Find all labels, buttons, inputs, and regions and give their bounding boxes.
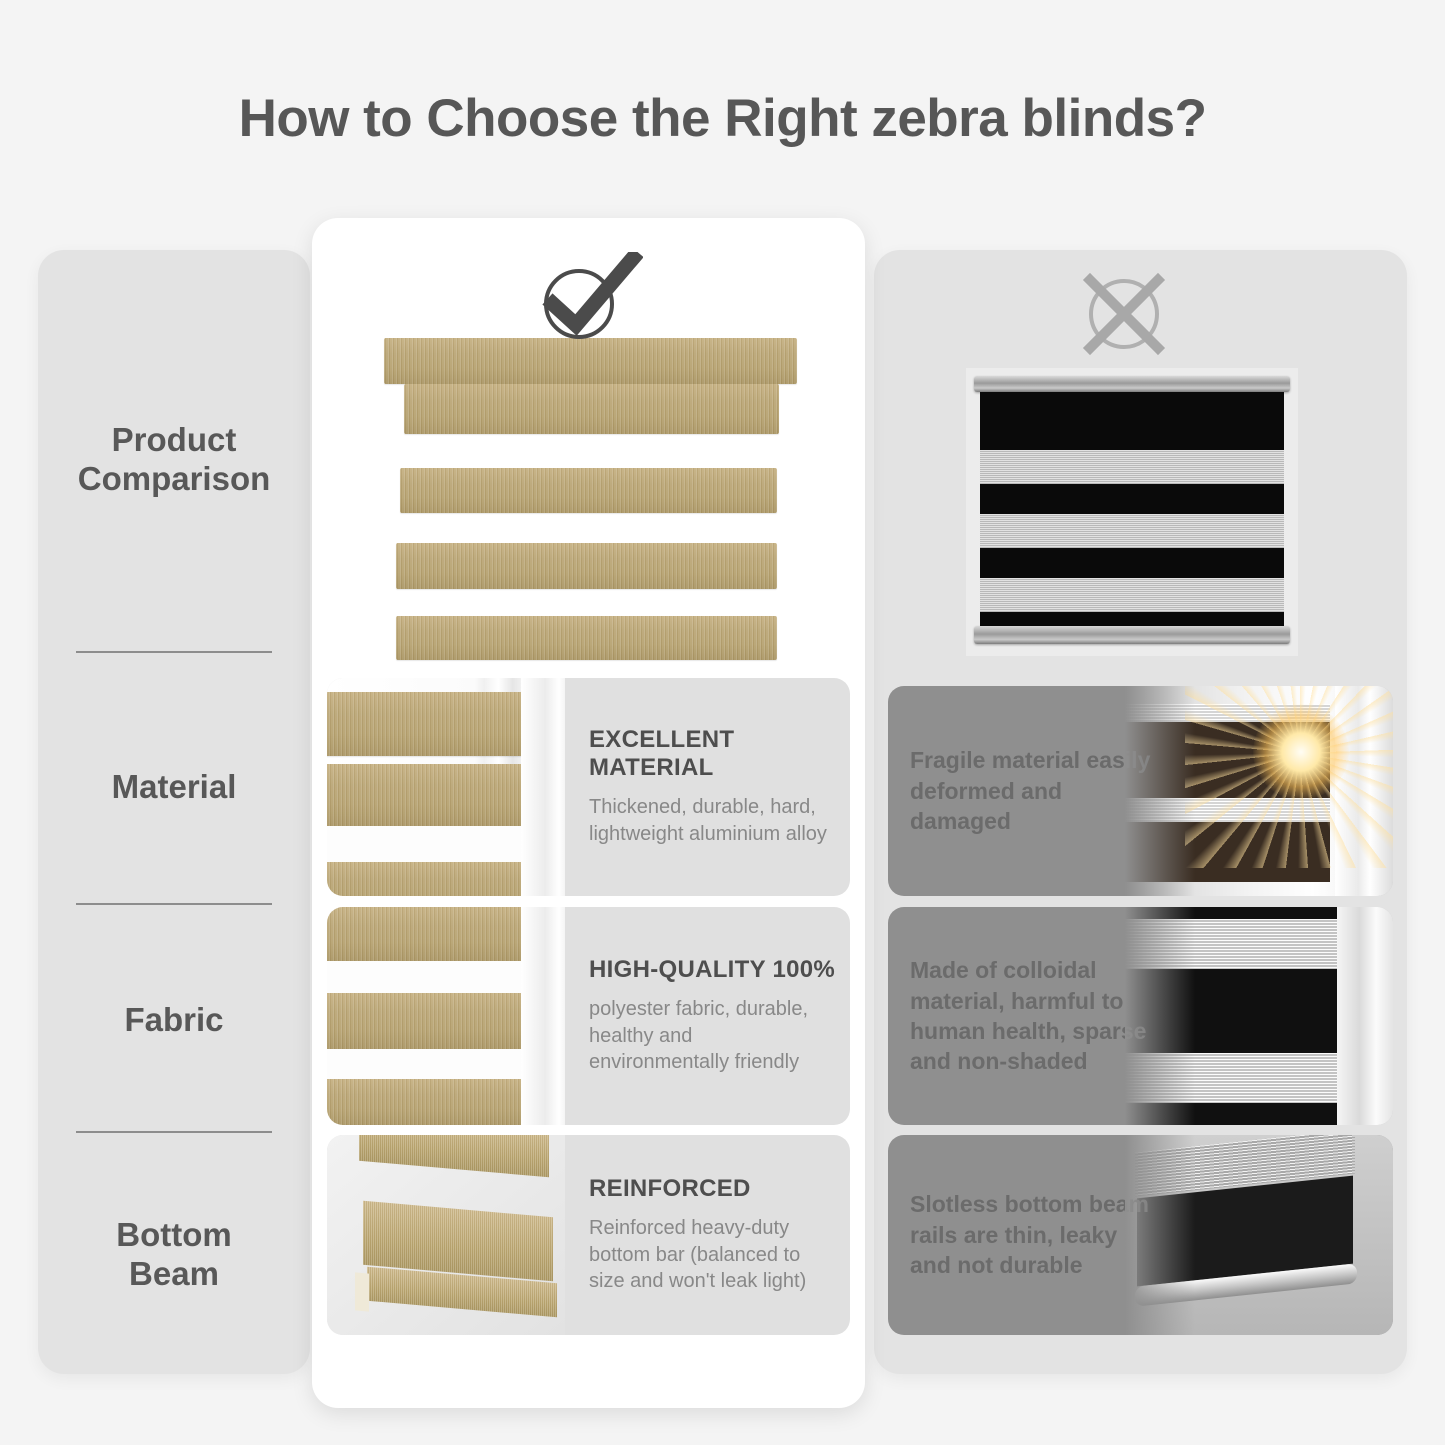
good-card-bottom-beam: REINFORCED Reinforced heavy-duty bottom … (327, 1135, 850, 1335)
blind-mesh-stripe (980, 450, 1284, 484)
blind-headrail (974, 376, 1290, 392)
good-card-material: EXCELLENT MATERIAL Thickened, durable, h… (327, 678, 850, 896)
cross-circle-icon (1078, 268, 1170, 360)
beige-blind-closeup-image (327, 678, 565, 896)
good-hero-image (382, 338, 799, 668)
sidebar-label-line1: Material (112, 768, 237, 807)
blind-slat (400, 468, 777, 513)
sidebar-label-line1: Product (78, 421, 271, 460)
blind-body (980, 392, 1284, 628)
card-body: Thickened, durable, hard, lightweight al… (589, 794, 836, 848)
beige-bottom-beam-image (327, 1135, 565, 1335)
bad-card-bottom-beam: Slotless bottom beam rails are thin, lea… (888, 1135, 1393, 1335)
blind-headrail (384, 338, 797, 384)
sidebar-label-line2: Beam (116, 1255, 231, 1294)
sidebar-item-bottom-beam: Bottom Beam (38, 1135, 310, 1374)
card-heading: HIGH-QUALITY 100% (589, 956, 836, 984)
sidebar-item-material: Material (38, 670, 310, 905)
sun-leak-window-image (1125, 686, 1393, 896)
blind-bottom-rail (974, 626, 1290, 644)
blind-mesh-stripe (980, 578, 1284, 612)
thin-bottom-rail-image (1125, 1135, 1393, 1335)
gray-striped-blind-image (1125, 907, 1393, 1125)
card-text: Fragile material easily deformed and dam… (910, 745, 1160, 836)
card-body: Reinforced heavy-duty bottom bar (balanc… (589, 1215, 836, 1295)
card-text: Slotless bottom beam rails are thin, lea… (910, 1189, 1160, 1280)
bad-hero-image (966, 368, 1298, 656)
sidebar-item-fabric: Fabric (38, 905, 310, 1135)
bad-card-material: Fragile material easily deformed and dam… (888, 686, 1393, 896)
sidebar-label-line1: Bottom (116, 1216, 231, 1255)
page-title: How to Choose the Right zebra blinds? (0, 88, 1445, 149)
card-heading: EXCELLENT MATERIAL (589, 726, 836, 782)
beige-blind-fabric-image (327, 907, 565, 1125)
blind-slat (396, 616, 777, 660)
card-text-wrap: Made of colloidal material, harmful to h… (910, 907, 1160, 1125)
sidebar-label-line1: Fabric (124, 1001, 223, 1040)
bad-card-fabric: Made of colloidal material, harmful to h… (888, 907, 1393, 1125)
sidebar-label-line2: Comparison (78, 460, 271, 499)
infographic-root: How to Choose the Right zebra blinds? Pr… (0, 0, 1445, 1445)
sidebar-divider (76, 651, 272, 653)
card-text-wrap: Fragile material easily deformed and dam… (910, 686, 1160, 896)
blind-slat (396, 543, 777, 589)
card-heading: REINFORCED (589, 1175, 836, 1203)
card-text: Made of colloidal material, harmful to h… (910, 955, 1160, 1076)
sidebar-divider (76, 1131, 272, 1133)
blind-slat (404, 384, 779, 434)
good-card-fabric: HIGH-QUALITY 100% polyester fabric, dura… (327, 907, 850, 1125)
sidebar-item-product-comparison: Product Comparison (38, 250, 310, 670)
card-text-wrap: Slotless bottom beam rails are thin, lea… (910, 1135, 1160, 1335)
blind-mesh-stripe (980, 514, 1284, 548)
check-circle-icon (533, 252, 643, 344)
card-body: polyester fabric, durable, healthy and e… (589, 996, 836, 1076)
